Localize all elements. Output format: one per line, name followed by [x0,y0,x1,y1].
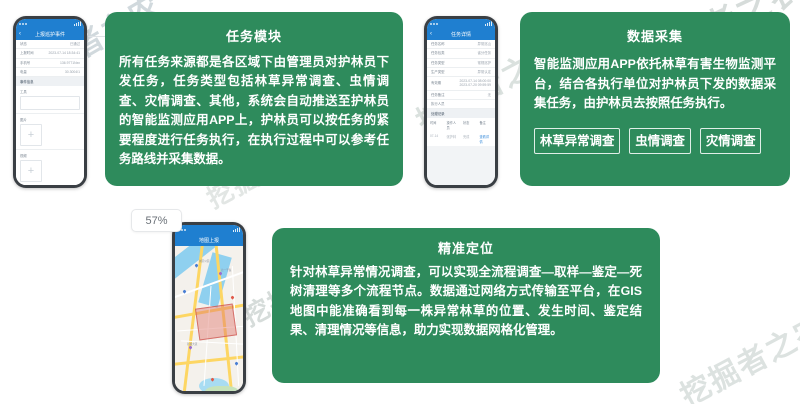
status-left-icons [430,23,438,25]
signal-icon [485,21,492,26]
status-bar [175,225,243,234]
row-label: 上报时间 [20,51,34,55]
row-value: 异常认定 [477,70,491,74]
phone-screen: ‹ 任务详情 任务名称 异常巡山 任务包类 省分任务 任务类型 常规巡护 生产类… [427,19,495,185]
form-row: 手机号 136.9771Nxx [16,59,84,68]
column-header: 备注 [480,120,493,130]
chip-pest-survey[interactable]: 虫情调查 [629,128,691,154]
add-video-icon[interactable]: + [20,160,42,182]
map-label: 新城大道 [187,342,197,346]
row-label: 手机号 [20,61,30,65]
back-arrow-icon[interactable]: ‹ [430,31,432,37]
row-label: 生产类型 [431,70,445,74]
form-block-photo: 图片 + [16,114,84,150]
zoom-level-badge[interactable]: 57% [131,209,182,232]
highlighted-survey-area[interactable] [195,304,237,341]
phone-content: 任务名称 异常巡山 任务包类 省分任务 任务类型 常规巡护 生产类型 异常认定 … [427,40,495,185]
chip-disaster-survey[interactable]: 灾情调查 [700,128,762,154]
panel-title: 任务模块 [119,26,389,45]
navbar-title: 地图上报 [199,237,219,244]
form-row: 电量 30.3004/1 [16,68,84,77]
row-value: 无 [488,93,491,97]
panel-body-text: 针对林草异常情况调查，可以实现全流程调查—取样—鉴定—死树清理等多个流程节点。数… [290,263,642,341]
row-value: 2023-07-14 18:34:41 [49,51,80,55]
panel-precise-positioning: 精准定位 针对林草异常情况调查，可以实现全流程调查—取样—鉴定—死树清理等多个流… [272,228,660,383]
row-label: 任务名称 [431,42,445,46]
column-header: 时间 [430,120,443,130]
field-label: 图片 [20,117,80,122]
text-input[interactable] [20,96,80,110]
section-header: 处理记录 [427,109,495,118]
field-label: 视频 [20,153,80,158]
phone-navbar: ‹ 上报巡护事件 [16,28,84,40]
phone-mockup-task-detail: ‹ 任务详情 任务名称 异常巡山 任务包类 省分任务 任务类型 常规巡护 生产类… [424,16,498,188]
row-value: 省分任务 [477,51,491,55]
panel-body-text: 所有任务来源都是各区域下由管理员对护林员下发任务，任务类型包括林草异常调查、虫情… [119,53,389,169]
form-row: 任务备注 无 [427,91,495,100]
phone-screen: 地图上报 [175,225,243,391]
survey-type-chip-group: 林草异常调查 虫情调查 灾情调查 [534,128,776,154]
panel-title: 精准定位 [290,238,642,257]
row-label: 有效期 [431,81,441,85]
gis-map-view[interactable]: 城区公园 北一干渠 新城大道 [175,246,243,391]
navbar-title: 上报巡护事件 [35,31,65,38]
form-row: 上报时间 2023-07-14 18:34:41 [16,49,84,58]
map-label: 城区公园 [199,259,209,263]
vegetation-patch [205,386,239,391]
panel-title: 数据采集 [534,26,776,45]
phone-screen: ‹ 上报巡护事件 状态 已通过 上报时间 2023-07-14 18:34:41… [16,19,84,185]
form-row: 任务名称 异常巡山 [427,40,495,49]
navbar-title: 任务详情 [451,31,471,38]
cell: 07-14 [430,134,443,144]
form-row: 生产类型 异常认定 [427,68,495,77]
status-left-icons [19,23,27,25]
panel-task-module: 任务模块 所有任务来源都是各区域下由管理员对护林员下发任务，任务类型包括林草异常… [105,12,403,186]
form-row: 任务包类 省分任务 [427,49,495,58]
column-header: 状态 [463,120,476,130]
row-label: 任务包类 [431,51,445,55]
phone-content: 城区公园 北一干渠 新城大道 [175,246,243,391]
phone-content: 状态 已通过 上报时间 2023-07-14 18:34:41 手机号 136.… [16,40,84,185]
chip-forest-anomaly-survey[interactable]: 林草异常调查 [534,128,620,154]
form-row: 有效期 2023-07-14 08:00:00 2023-07-20 09:59… [427,77,495,91]
row-label: 任务备注 [431,93,445,97]
form-row: 执行人员 [427,100,495,109]
form-row: 任务类型 常规巡护 [427,59,495,68]
phone-navbar: ‹ 任务详情 [427,28,495,40]
status-bar [427,19,495,28]
table-row: 07-14 张护林 完成 查看详情 [427,132,495,146]
form-block-text: 工具 [16,86,84,114]
cell: 张护林 [447,134,460,144]
add-photo-icon[interactable]: + [20,124,42,146]
signal-icon [74,21,81,26]
phone-mockup-map: 地图上报 [172,222,246,394]
screenshot-canvas: 挖掘者之农 挖掘者之农 挖掘者之农 挖掘者之农 挖掘者之农 挖掘者之农 ‹ 上报… [0,0,800,404]
row-label: 状态 [20,42,27,46]
map-pin-icon[interactable] [188,345,192,349]
row-value: 2023-07-14 08:00:00 2023-07-20 09:59:59 [460,79,491,88]
row-value: 常规巡护 [477,61,491,65]
phone-navbar: 地图上报 [175,234,243,246]
row-value: 异常巡山 [477,42,491,46]
phone-mockup-task-report: ‹ 上报巡护事件 状态 已通过 上报时间 2023-07-14 18:34:41… [13,16,87,188]
row-label: 任务类型 [431,61,445,65]
row-label: 执行人员 [431,102,445,106]
section-header: 事件信息 [16,77,84,86]
panel-body-text: 智能监测应用APP依托林草有害生物监测平台，结合各执行单位对护林员下发的数据采集… [534,55,776,114]
view-detail-link[interactable]: 查看详情 [480,134,493,144]
map-label: 北一干渠 [221,268,231,272]
row-value: 已通过 [70,42,80,46]
form-row: 状态 已通过 [16,40,84,49]
watermark-text: 挖掘者之农 [671,301,800,404]
form-block-video: 视频 + [16,150,84,185]
column-header: 操作人员 [447,120,460,130]
cell: 完成 [463,134,476,144]
table-header-row: 时间 操作人员 状态 备注 [427,118,495,132]
panel-data-collection: 数据采集 智能监测应用APP依托林草有害生物监测平台，结合各执行单位对护林员下发… [520,12,790,186]
row-label: 电量 [20,70,27,74]
field-label: 工具 [20,89,80,94]
row-value: 30.3004/1 [65,70,80,74]
back-arrow-icon[interactable]: ‹ [19,31,21,37]
signal-icon [233,227,240,232]
row-value: 136.9771Nxx [60,61,80,65]
status-bar [16,19,84,28]
